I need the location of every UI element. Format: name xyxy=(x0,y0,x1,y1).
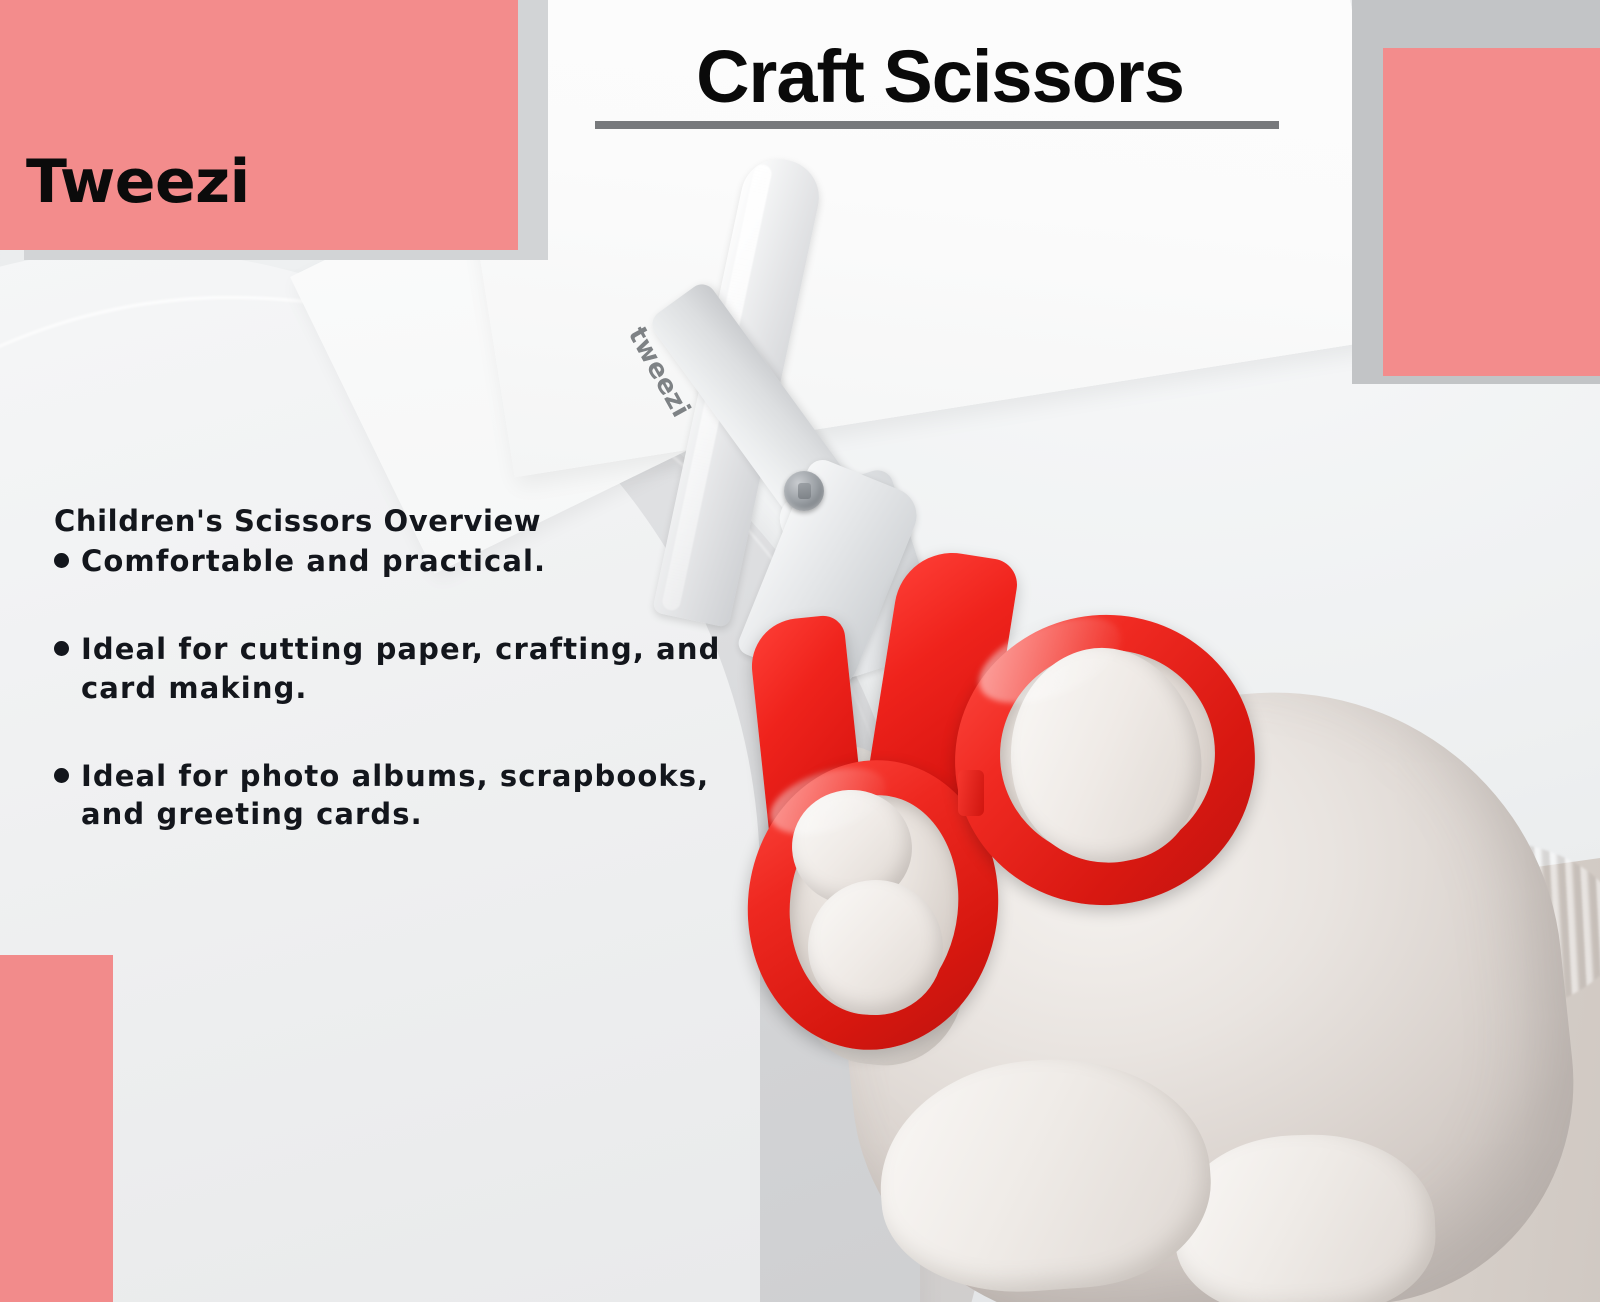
pink-block-top-right xyxy=(1383,48,1600,376)
feature-bullet-label: Comfortable and practical. xyxy=(81,542,546,580)
pink-block-bottom-left xyxy=(0,955,113,1302)
scissor-pivot-slot xyxy=(798,483,811,499)
product-poster: tweezi Tweezi Craft Scissors Children's … xyxy=(0,0,1600,1302)
bullet-dot-icon xyxy=(54,641,69,656)
feature-bullet-label: Ideal for cutting paper, crafting, and c… xyxy=(81,630,734,707)
feature-copy-block: Children's Scissors Overview Comfortable… xyxy=(54,503,734,833)
scissor-handle-tab xyxy=(958,770,984,816)
page-title: Craft Scissors xyxy=(595,38,1285,116)
brand-logo-text: Tweezi xyxy=(26,152,250,212)
bullet-dot-icon xyxy=(54,553,69,568)
feature-bullet: Ideal for photo albums, scrapbooks, and … xyxy=(54,757,734,834)
feature-bullet-label: Ideal for photo albums, scrapbooks, and … xyxy=(81,757,734,834)
bullet-dot-icon xyxy=(54,768,69,783)
feature-bullet: Comfortable and practical. xyxy=(54,542,734,580)
copy-heading: Children's Scissors Overview xyxy=(54,503,734,540)
title-underline-rule xyxy=(595,121,1279,129)
feature-bullet: Ideal for cutting paper, crafting, and c… xyxy=(54,630,734,707)
